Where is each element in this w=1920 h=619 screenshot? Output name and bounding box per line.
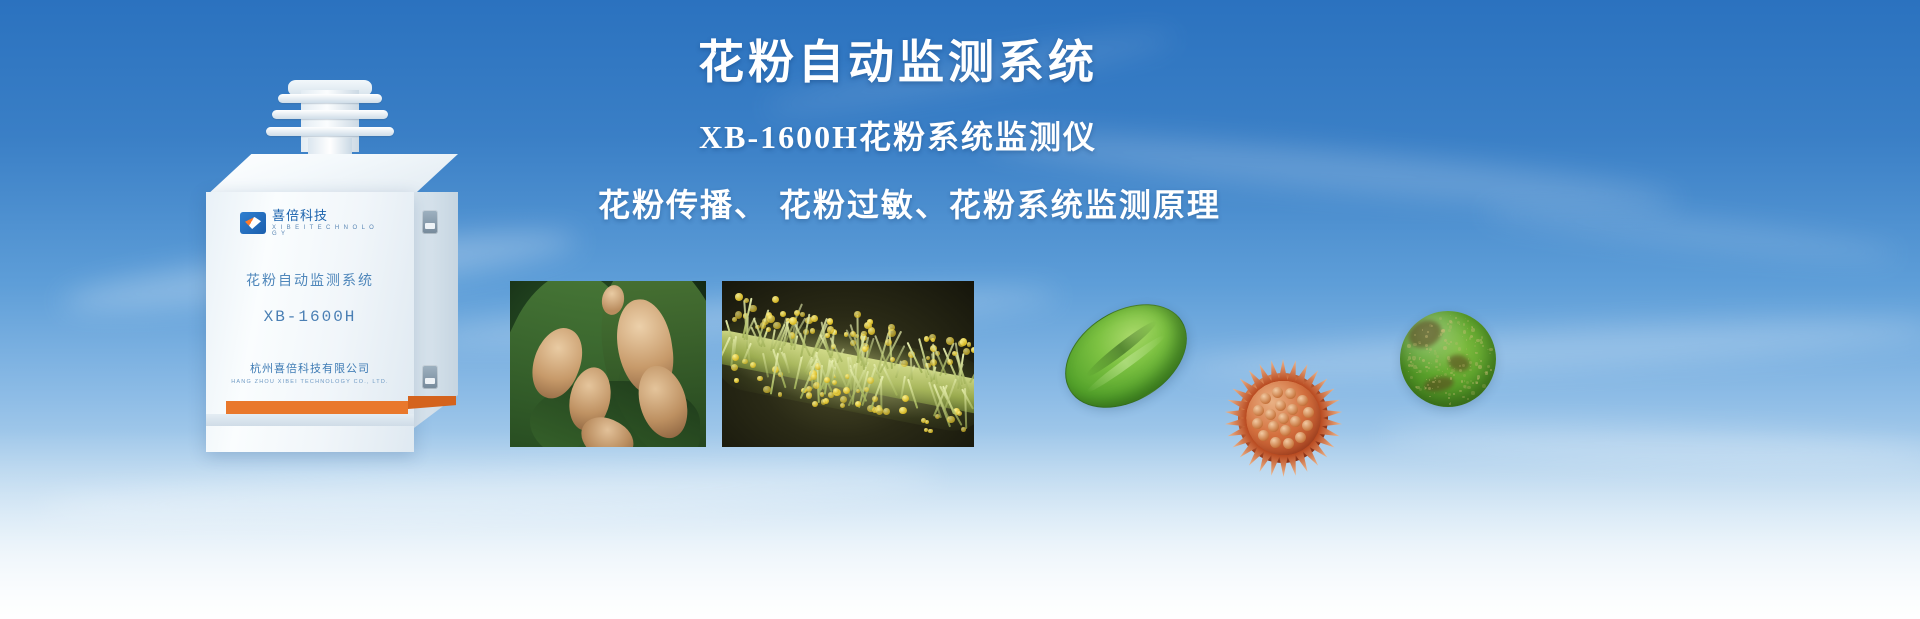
spiky-grain-bump: [1270, 437, 1281, 448]
catkin-anther: [794, 310, 800, 316]
sphere-grain-speck: [1442, 333, 1443, 334]
photo-catkin-stamens: [722, 281, 974, 447]
sphere-grain-speck: [1479, 359, 1480, 360]
sphere-grain-speck: [1490, 369, 1492, 371]
sphere-grain-speck: [1410, 361, 1411, 362]
catkin-anther: [929, 334, 936, 341]
catkin-anther: [760, 322, 766, 328]
spiky-grain-bump: [1280, 425, 1291, 436]
spiky-grain-bump: [1272, 387, 1283, 398]
sphere-grain-speck: [1455, 317, 1457, 319]
device-orange-stripe-side: [408, 396, 456, 409]
catkin-anther: [883, 408, 890, 415]
device-orange-stripe: [226, 401, 408, 414]
sphere-grain-speck: [1487, 365, 1490, 368]
device-brand-en: X I B E I T E C H N O L O G Y: [272, 225, 380, 237]
sphere-grain-speck: [1419, 358, 1420, 359]
catkin-anther: [861, 331, 866, 336]
sphere-grain-speck: [1489, 353, 1491, 355]
sphere-grain-speck: [1459, 390, 1461, 392]
sphere-grain-speck: [1435, 359, 1438, 362]
sphere-grain-speck: [1407, 344, 1411, 348]
cloud-wisp: [1480, 198, 1900, 268]
device-company-en: HANG ZHOU XIBEI TECHNOLOGY CO., LTD.: [206, 379, 414, 385]
spiky-grain-bump: [1275, 400, 1286, 411]
device-lid: [206, 154, 458, 196]
sphere-grain-speck: [1437, 386, 1438, 387]
device-model-number: XB-1600H: [206, 308, 414, 326]
device-product-name: 花粉自动监测系统: [206, 270, 414, 290]
catkin-anther: [820, 392, 824, 396]
catkin-anther: [888, 329, 896, 337]
sphere-grain-speck: [1478, 365, 1481, 368]
catkin-filament: [880, 376, 882, 411]
sphere-grain-speck: [1409, 353, 1411, 355]
device-brand-text: 喜倍科技 X I B E I T E C H N O L O G Y: [272, 209, 380, 237]
sphere-grain-speck: [1425, 335, 1428, 338]
sphere-grain-speck: [1450, 315, 1451, 316]
sphere-grain-speck: [1429, 348, 1432, 351]
catkin-anther: [734, 378, 739, 383]
sphere-grain-speck: [1470, 366, 1471, 367]
spiky-grain-bump: [1265, 409, 1276, 420]
spiky-grain-spike: [1279, 455, 1288, 477]
sphere-grain-speck: [1458, 347, 1461, 350]
sphere-grain-speck: [1408, 371, 1409, 372]
spiky-grain-bump: [1252, 418, 1263, 429]
catkin-anther: [825, 333, 829, 337]
catkin-anther: [800, 312, 804, 316]
sphere-grain-speck: [1428, 387, 1431, 390]
sphere-grain-speck: [1472, 336, 1473, 337]
sphere-grain-speck: [1426, 348, 1428, 350]
sphere-grain-speck: [1476, 382, 1478, 384]
banner-headline-block: 花粉自动监测系统 XB-1600H花粉系统监测仪 花粉传播、 花粉过敏、花粉系统…: [598, 34, 1198, 226]
sphere-grain-speck: [1439, 317, 1442, 320]
sphere-grain-speck: [1410, 376, 1413, 379]
sphere-grain-speck: [1448, 329, 1451, 332]
sphere-grain-speck: [1469, 369, 1471, 371]
spiky-grain-bump: [1258, 430, 1269, 441]
sphere-grain-speck: [1467, 328, 1468, 329]
sphere-grain-speck: [1477, 375, 1481, 379]
xibei-logo-icon: [240, 212, 266, 234]
catkin-anther: [921, 418, 926, 423]
cloud-wisp: [1380, 420, 1920, 470]
banner-tagline: 花粉传播、 花粉过敏、花粉系统监测原理: [598, 180, 1198, 226]
sphere-grain-speck: [1463, 323, 1466, 326]
sphere-grain-speck: [1489, 348, 1493, 352]
sphere-grain-speck: [1413, 359, 1415, 361]
sphere-grain-speck: [1431, 363, 1432, 364]
pollen-grain-sphere: [1400, 311, 1496, 407]
sphere-grain-speck: [1448, 393, 1451, 396]
sphere-grain-speck: [1480, 360, 1482, 362]
sphere-grain-speck: [1471, 328, 1475, 332]
sphere-grain-speck: [1455, 342, 1458, 345]
device-brand-cn: 喜倍科技: [272, 209, 380, 222]
sphere-grain-speck: [1462, 336, 1463, 337]
catkin-anther: [967, 342, 972, 347]
pollen-grain-ellipsoid: [1046, 283, 1206, 429]
sphere-grain-speck: [1463, 330, 1466, 333]
sphere-grain-speck: [1480, 341, 1483, 344]
catkin-anther: [924, 336, 930, 342]
sphere-grain-speck: [1466, 348, 1467, 349]
catkin-anther: [928, 429, 932, 433]
sphere-grain-speck: [1439, 363, 1441, 365]
sphere-grain-speck: [1457, 321, 1460, 324]
catkin-anther: [971, 347, 974, 353]
sphere-grain-speck: [1443, 346, 1447, 350]
sphere-grain-speck: [1482, 384, 1486, 388]
sphere-grain-speck: [1463, 385, 1466, 388]
spiky-grain-bump: [1290, 416, 1301, 427]
sphere-grain-speck: [1422, 359, 1425, 362]
pollen-monitoring-banner: 喜倍科技 X I B E I T E C H N O L O G Y 花粉自动监…: [0, 0, 1920, 619]
pollen-grain-spiky: [1224, 359, 1342, 477]
sphere-grain-speck: [1426, 370, 1428, 372]
sphere-grain-speck: [1469, 361, 1472, 364]
device-latch-icon: [422, 365, 438, 389]
sphere-grain-speck: [1453, 374, 1455, 376]
sphere-grain-speck: [1450, 372, 1452, 374]
sphere-grain-speck: [1449, 325, 1453, 329]
sphere-grain-speck: [1462, 396, 1464, 398]
device-inlet-fin: [266, 127, 394, 136]
catkin-anther: [946, 337, 953, 344]
catkin-anther: [899, 407, 907, 415]
sphere-grain-speck: [1428, 362, 1430, 364]
catkin-anther: [872, 396, 878, 402]
sphere-grain-speck: [1448, 343, 1450, 345]
sphere-grain-speck: [1428, 367, 1430, 369]
sphere-grain-speck: [1442, 371, 1443, 372]
sphere-grain-speck: [1416, 372, 1417, 373]
device-company-block: 杭州喜倍科技有限公司 HANG ZHOU XIBEI TECHNOLOGY CO…: [206, 360, 414, 385]
catkin-anther: [840, 396, 847, 403]
spiky-grain-bump: [1295, 432, 1306, 443]
sphere-grain-speck: [1463, 374, 1466, 377]
pollen-monitor-device: 喜倍科技 X I B E I T E C H N O L O G Y 花粉自动监…: [196, 80, 466, 440]
catkin-anther: [827, 318, 834, 325]
sphere-grain-speck: [1408, 356, 1412, 360]
sphere-grain-speck: [1466, 339, 1467, 340]
catkin-anther: [757, 376, 762, 381]
sphere-grain-speck: [1445, 392, 1447, 394]
sphere-grain-speck: [1413, 343, 1416, 346]
spiky-grain-bump: [1287, 404, 1298, 415]
photo-cypress-pollen-cones: [510, 281, 706, 447]
sphere-grain-speck: [1469, 337, 1471, 339]
sphere-grain-speck: [1429, 352, 1430, 353]
sphere-grain-speck: [1464, 380, 1466, 382]
catkin-anther: [789, 317, 797, 325]
sphere-grain-speck: [1466, 354, 1468, 356]
sphere-grain-speck: [1441, 375, 1442, 376]
sphere-grain-speck: [1438, 380, 1441, 383]
catkin-anther: [840, 403, 845, 408]
page-title: 花粉自动监测系统: [598, 34, 1198, 92]
sphere-grain-speck: [1444, 373, 1447, 376]
sphere-grain-speck: [1435, 366, 1437, 368]
catkin-anther: [780, 311, 786, 317]
sphere-grain-speck: [1453, 393, 1455, 395]
sphere-grain-speck: [1475, 342, 1476, 343]
sphere-grain-speck: [1450, 377, 1452, 379]
catkin-anther: [947, 359, 953, 365]
sphere-grain-speck: [1467, 398, 1469, 400]
sphere-grain-speck: [1419, 370, 1421, 372]
banner-subtitle: XB-1600H花粉系统监测仪: [598, 112, 1198, 158]
sphere-grain-speck: [1427, 331, 1429, 333]
sphere-grain-speck: [1484, 372, 1485, 373]
sphere-grain-speck: [1470, 380, 1472, 382]
sphere-grain-speck: [1474, 345, 1476, 347]
spiky-grain-bump: [1302, 420, 1313, 431]
sphere-grain-speck: [1467, 386, 1470, 389]
catkin-anther: [735, 293, 742, 300]
sphere-grain-speck: [1427, 384, 1429, 386]
sphere-grain-speck: [1467, 320, 1469, 322]
sphere-grain-speck: [1471, 391, 1474, 394]
horizon-haze: [0, 429, 1920, 619]
sphere-grain-speck: [1447, 368, 1448, 369]
device-inlet-fin: [272, 110, 388, 119]
sphere-grain-speck: [1462, 364, 1465, 367]
device-brand-logo: 喜倍科技 X I B E I T E C H N O L O G Y: [240, 206, 380, 240]
sphere-grain-speck: [1466, 381, 1469, 384]
catkin-anther: [812, 401, 818, 407]
sphere-grain-speck: [1416, 367, 1418, 369]
sphere-grain-speck: [1450, 341, 1452, 343]
spiky-grain-bump: [1278, 413, 1289, 424]
sphere-grain-speck: [1419, 388, 1421, 390]
sphere-grain-speck: [1437, 369, 1440, 372]
spiky-grain-bump: [1285, 388, 1296, 399]
cloud-wisp: [39, 454, 940, 531]
catkin-anther: [926, 356, 930, 360]
sphere-grain-speck: [1434, 392, 1435, 393]
catkin-anther: [778, 392, 783, 397]
device-company-cn: 杭州喜倍科技有限公司: [206, 360, 414, 376]
sphere-grain-speck: [1429, 324, 1432, 327]
sphere-grain-speck: [1434, 377, 1436, 379]
spiky-grain-bump: [1283, 438, 1294, 449]
sphere-grain-speck: [1468, 358, 1470, 360]
sphere-grain-speck: [1475, 362, 1479, 366]
catkin-anther: [821, 399, 826, 404]
sphere-grain-speck: [1436, 355, 1439, 358]
device-inlet-fin: [278, 94, 382, 103]
device-base: [206, 414, 414, 426]
sphere-grain-speck: [1448, 397, 1450, 399]
spiky-grain-bump: [1253, 405, 1264, 416]
sphere-grain-speck: [1414, 334, 1416, 336]
sphere-grain-speck: [1482, 345, 1484, 347]
sphere-grain-speck: [1459, 365, 1461, 367]
catkin-anther: [867, 377, 874, 384]
sphere-grain-speck: [1472, 382, 1474, 384]
spiky-grain-bump: [1260, 393, 1271, 404]
catkin-anther: [854, 311, 860, 317]
catkin-anther: [767, 315, 775, 323]
catkin-anther: [961, 427, 966, 432]
catkin-anther: [930, 359, 937, 366]
sphere-grain-speck: [1429, 396, 1431, 398]
catkin-anther: [843, 387, 850, 394]
sphere-grain-speck: [1459, 324, 1460, 325]
spiky-grain-spike: [1279, 359, 1288, 381]
spiky-grain-bump: [1297, 395, 1308, 406]
device-latch-icon: [422, 210, 438, 234]
catkin-anther: [833, 388, 839, 394]
sphere-grain-speck: [1459, 369, 1463, 373]
sphere-grain-speck: [1465, 318, 1466, 319]
catkin-anther: [731, 364, 738, 371]
spiky-grain-bump: [1268, 421, 1279, 432]
sphere-grain-speck: [1449, 403, 1451, 405]
spiky-grain-bump: [1303, 407, 1314, 418]
